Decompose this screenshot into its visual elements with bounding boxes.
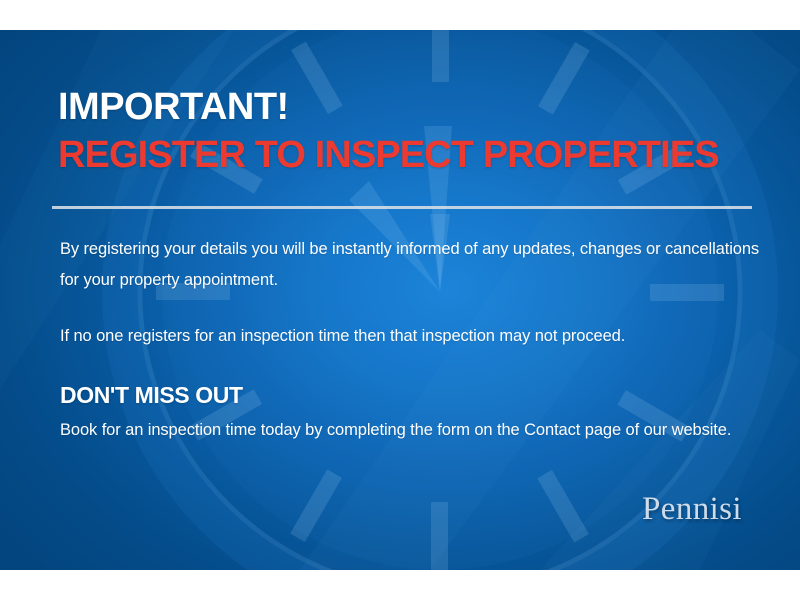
- subheading-dont-miss-out: DON'T MISS OUT: [60, 382, 760, 409]
- slide-content: IMPORTANT! REGISTER TO INSPECT PROPERTIE…: [0, 30, 800, 570]
- slide-blue-panel: IMPORTANT! REGISTER TO INSPECT PROPERTIE…: [0, 30, 800, 570]
- headline-block: IMPORTANT! REGISTER TO INSPECT PROPERTIE…: [58, 88, 758, 174]
- paragraph-no-registrations: If no one registers for an inspection ti…: [60, 321, 760, 352]
- pennisi-logo: Pennisi: [642, 491, 742, 528]
- divider: [52, 206, 752, 209]
- paragraph-registering-details: By registering your details you will be …: [60, 234, 760, 295]
- page-subtitle: REGISTER TO INSPECT PROPERTIES: [58, 136, 758, 174]
- body-block: By registering your details you will be …: [60, 234, 760, 445]
- page-title: IMPORTANT!: [58, 88, 758, 126]
- paragraph-book-inspection: Book for an inspection time today by com…: [60, 415, 760, 446]
- promo-slide: IMPORTANT! REGISTER TO INSPECT PROPERTIE…: [0, 0, 800, 600]
